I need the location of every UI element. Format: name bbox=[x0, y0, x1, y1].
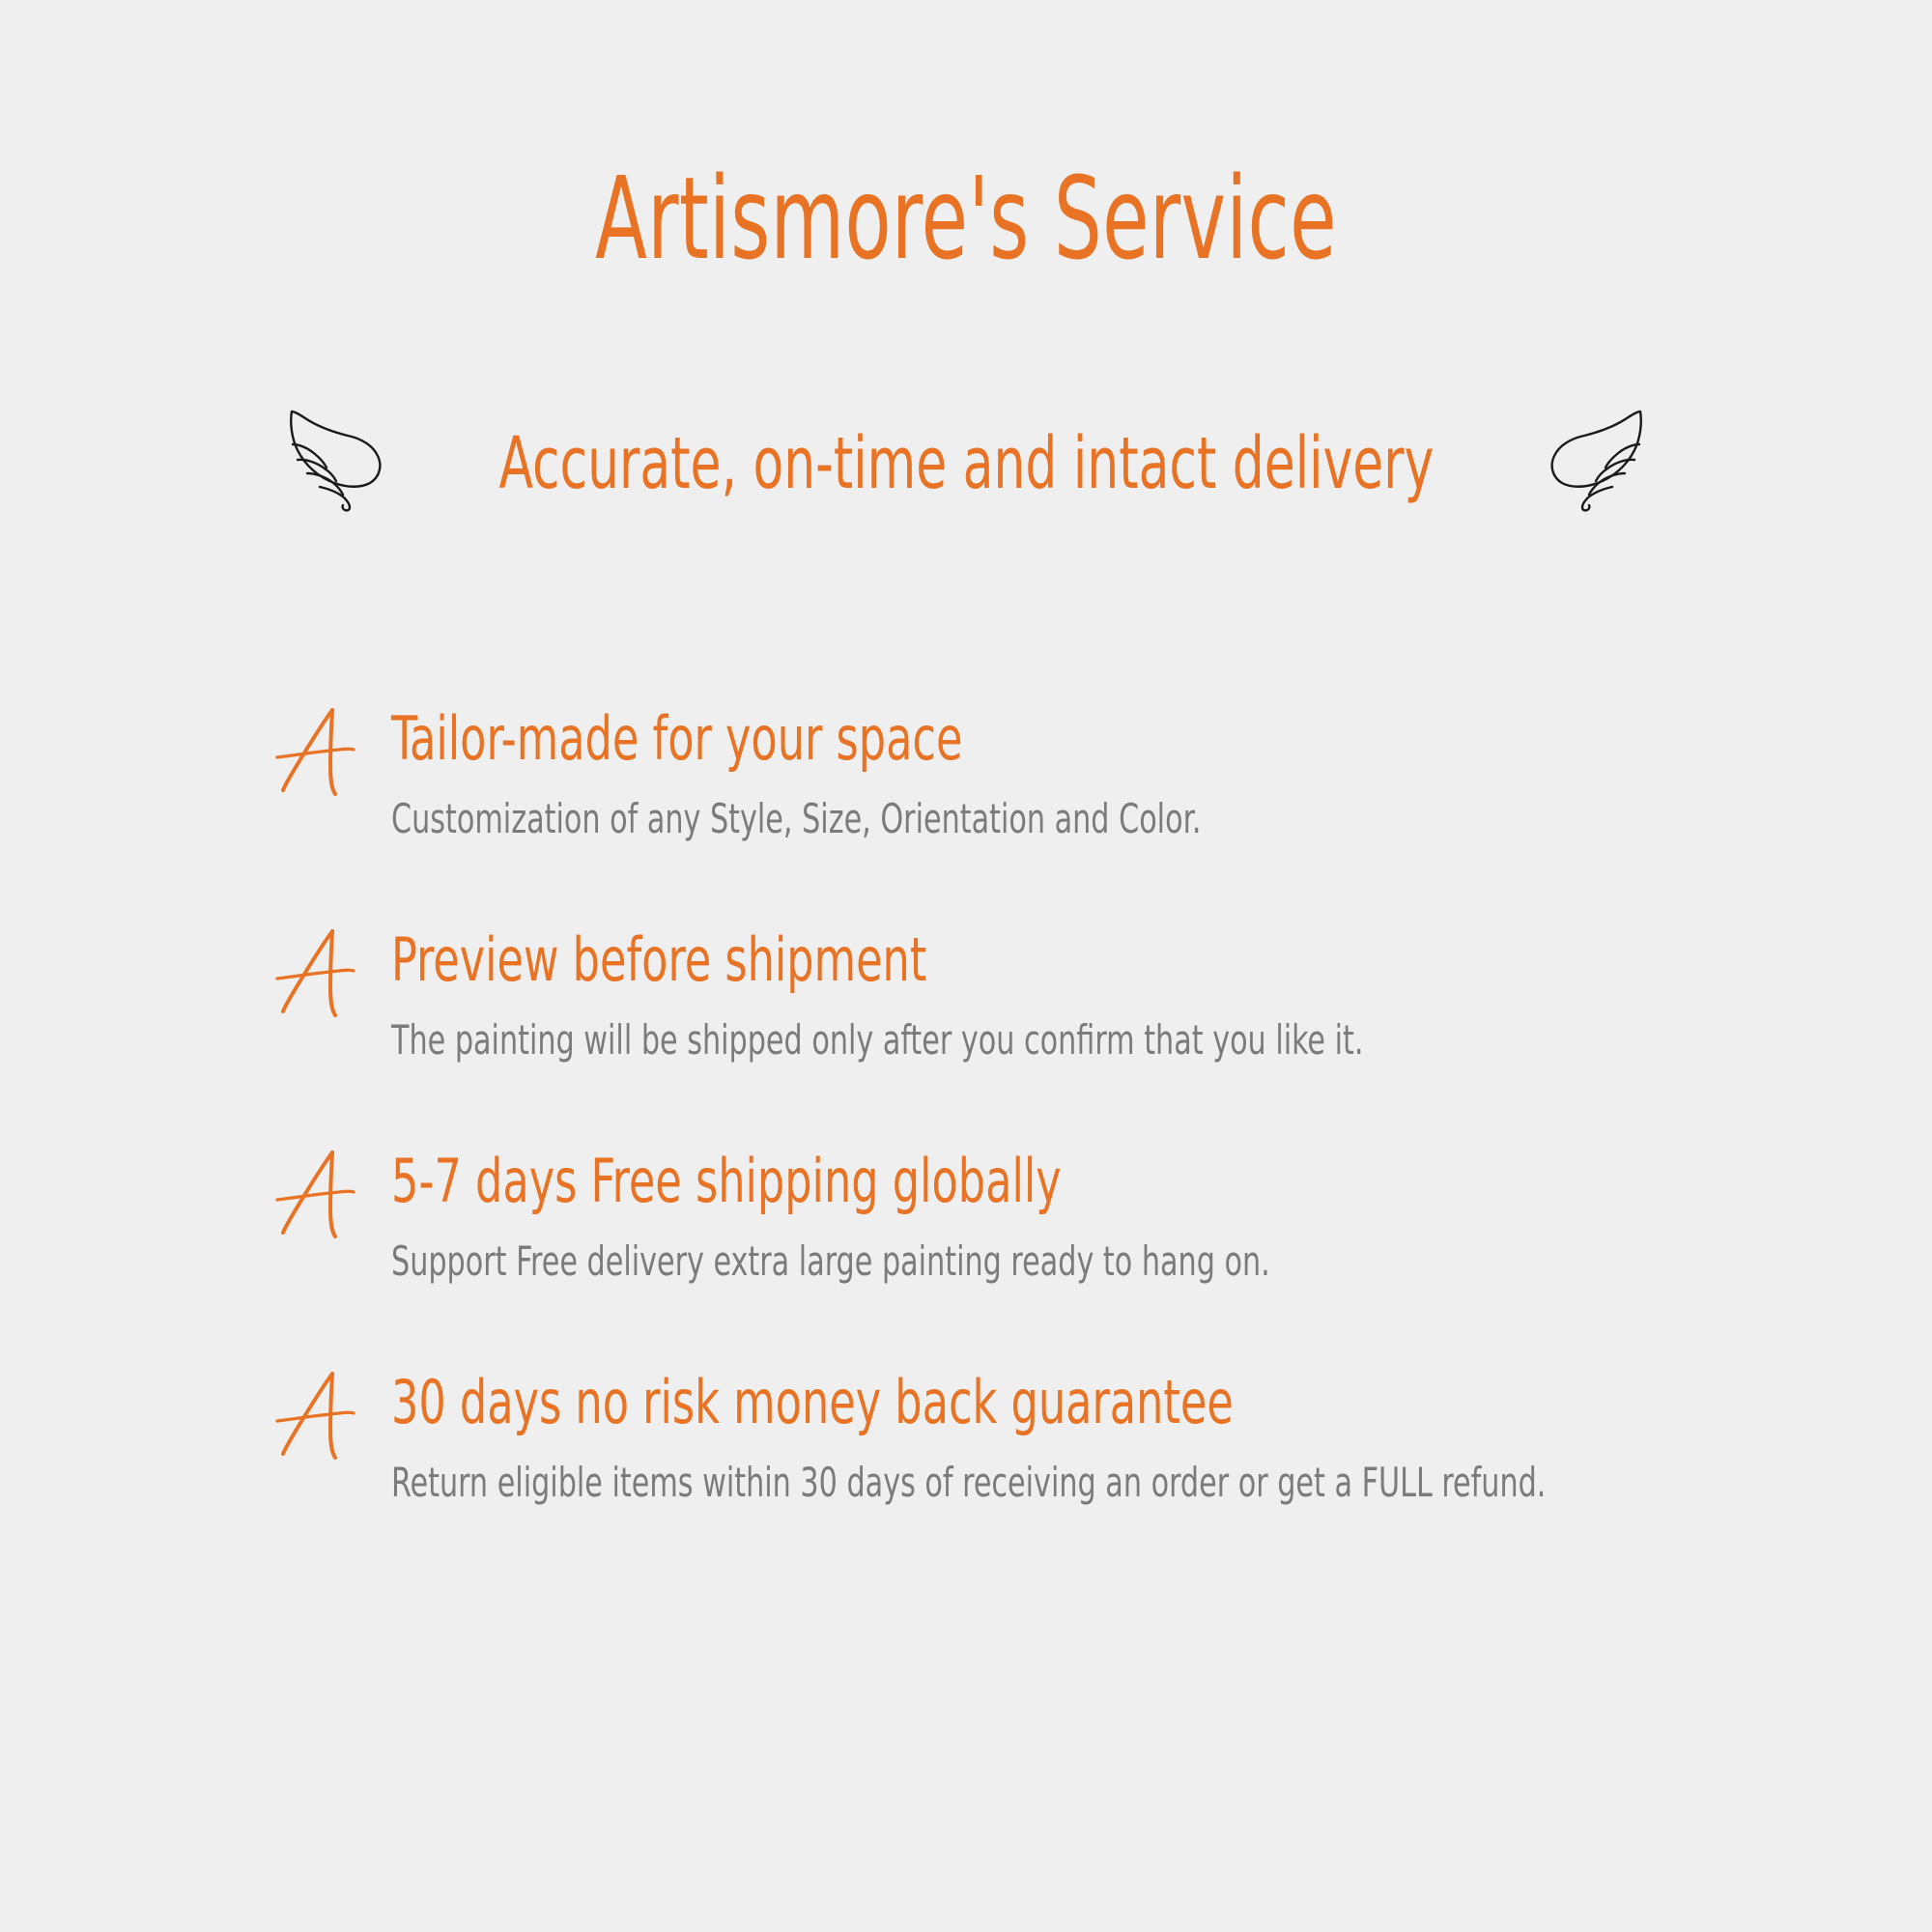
feature-title: Preview before shipment bbox=[391, 924, 1566, 995]
script-a-icon bbox=[275, 1148, 358, 1240]
subtitle-row: Accurate, on-time and intact delivery bbox=[0, 386, 1932, 531]
feature-description: Support Free delivery extra large painti… bbox=[391, 1237, 1566, 1286]
page-subtitle: Accurate, on-time and intact delivery bbox=[498, 418, 1434, 499]
script-a-icon bbox=[275, 705, 358, 798]
script-a-icon bbox=[275, 926, 358, 1019]
wing-left-icon bbox=[276, 402, 392, 516]
feature-description: The painting will be shipped only after … bbox=[391, 1016, 1566, 1065]
feature-item: 5-7 days Free shipping globally Support … bbox=[275, 1146, 1860, 1320]
feature-item: Preview before shipment The painting wil… bbox=[275, 924, 1860, 1098]
service-info-page: Artismore's Service Accurate, on-time an… bbox=[0, 0, 1932, 1932]
feature-list: Tailor-made for your space Customization… bbox=[275, 703, 1860, 1541]
feature-description: Customization of any Style, Size, Orient… bbox=[391, 795, 1566, 843]
feature-title: 30 days no risk money back guarantee bbox=[391, 1367, 1566, 1437]
feature-description: Return eligible items within 30 days of … bbox=[391, 1459, 1566, 1507]
wing-right-icon bbox=[1540, 402, 1656, 516]
feature-item: Tailor-made for your space Customization… bbox=[275, 703, 1860, 877]
feature-item: 30 days no risk money back guarantee Ret… bbox=[275, 1367, 1860, 1541]
script-a-icon bbox=[275, 1369, 358, 1462]
page-title: Artismore's Service bbox=[251, 159, 1681, 279]
feature-title: 5-7 days Free shipping globally bbox=[391, 1146, 1566, 1216]
feature-title: Tailor-made for your space bbox=[391, 703, 1566, 774]
